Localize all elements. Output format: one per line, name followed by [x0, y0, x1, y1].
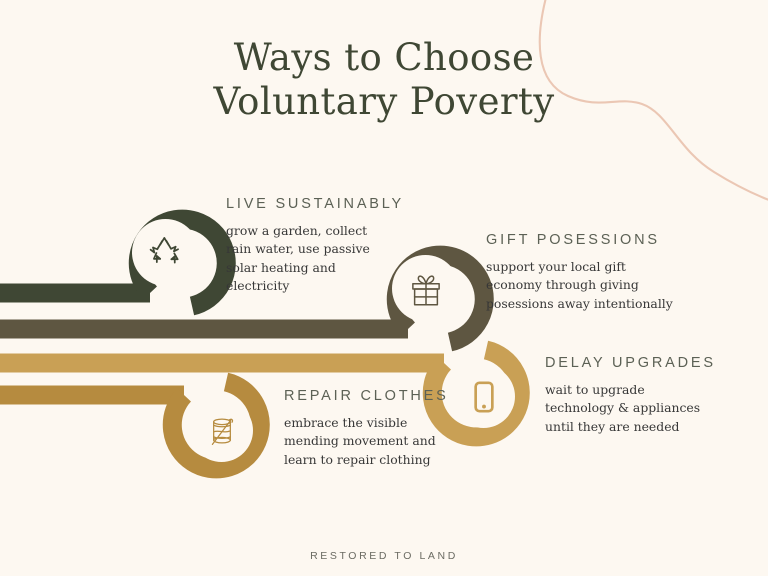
item-delay-upgrades: DELAY UPGRADES wait to upgrade technolog…	[545, 355, 710, 436]
icon-disc-gift-posessions	[392, 255, 459, 322]
item-body-gift-posessions: support your local gift economy through …	[486, 258, 676, 313]
title-line-2: Voluntary Poverty	[0, 80, 768, 124]
icon-disc-live-sustainably	[132, 219, 199, 286]
item-live-sustainably: LIVE SUSTAINABLY grow a garden, collect …	[226, 196, 376, 295]
page-title: Ways to Choose Voluntary Poverty	[0, 36, 768, 123]
item-heading-repair-clothes: REPAIR CLOTHES	[284, 388, 449, 404]
item-heading-live-sustainably: LIVE SUSTAINABLY	[226, 196, 376, 212]
footer-brand: RESTORED TO LAND	[0, 550, 768, 562]
item-body-live-sustainably: grow a garden, collect rain water, use p…	[226, 222, 376, 295]
item-repair-clothes: REPAIR CLOTHES embrace the visible mendi…	[284, 388, 449, 469]
gift-box-icon	[405, 268, 447, 310]
item-gift-posessions: GIFT POSESSIONS support your local gift …	[486, 232, 676, 313]
item-body-delay-upgrades: wait to upgrade technology & appliances …	[545, 381, 710, 436]
smartphone-icon	[464, 377, 504, 417]
item-body-repair-clothes: embrace the visible mending movement and…	[284, 414, 449, 469]
icon-disc-delay-upgrades	[452, 365, 515, 428]
infographic-canvas: Ways to Choose Voluntary Poverty LIVE SU…	[0, 0, 768, 576]
thread-spool-icon	[202, 411, 242, 451]
item-heading-gift-posessions: GIFT POSESSIONS	[486, 232, 676, 248]
icon-disc-repair-clothes	[190, 399, 253, 462]
item-heading-delay-upgrades: DELAY UPGRADES	[545, 355, 710, 371]
title-line-1: Ways to Choose	[0, 36, 768, 80]
recycle-icon	[146, 233, 186, 273]
